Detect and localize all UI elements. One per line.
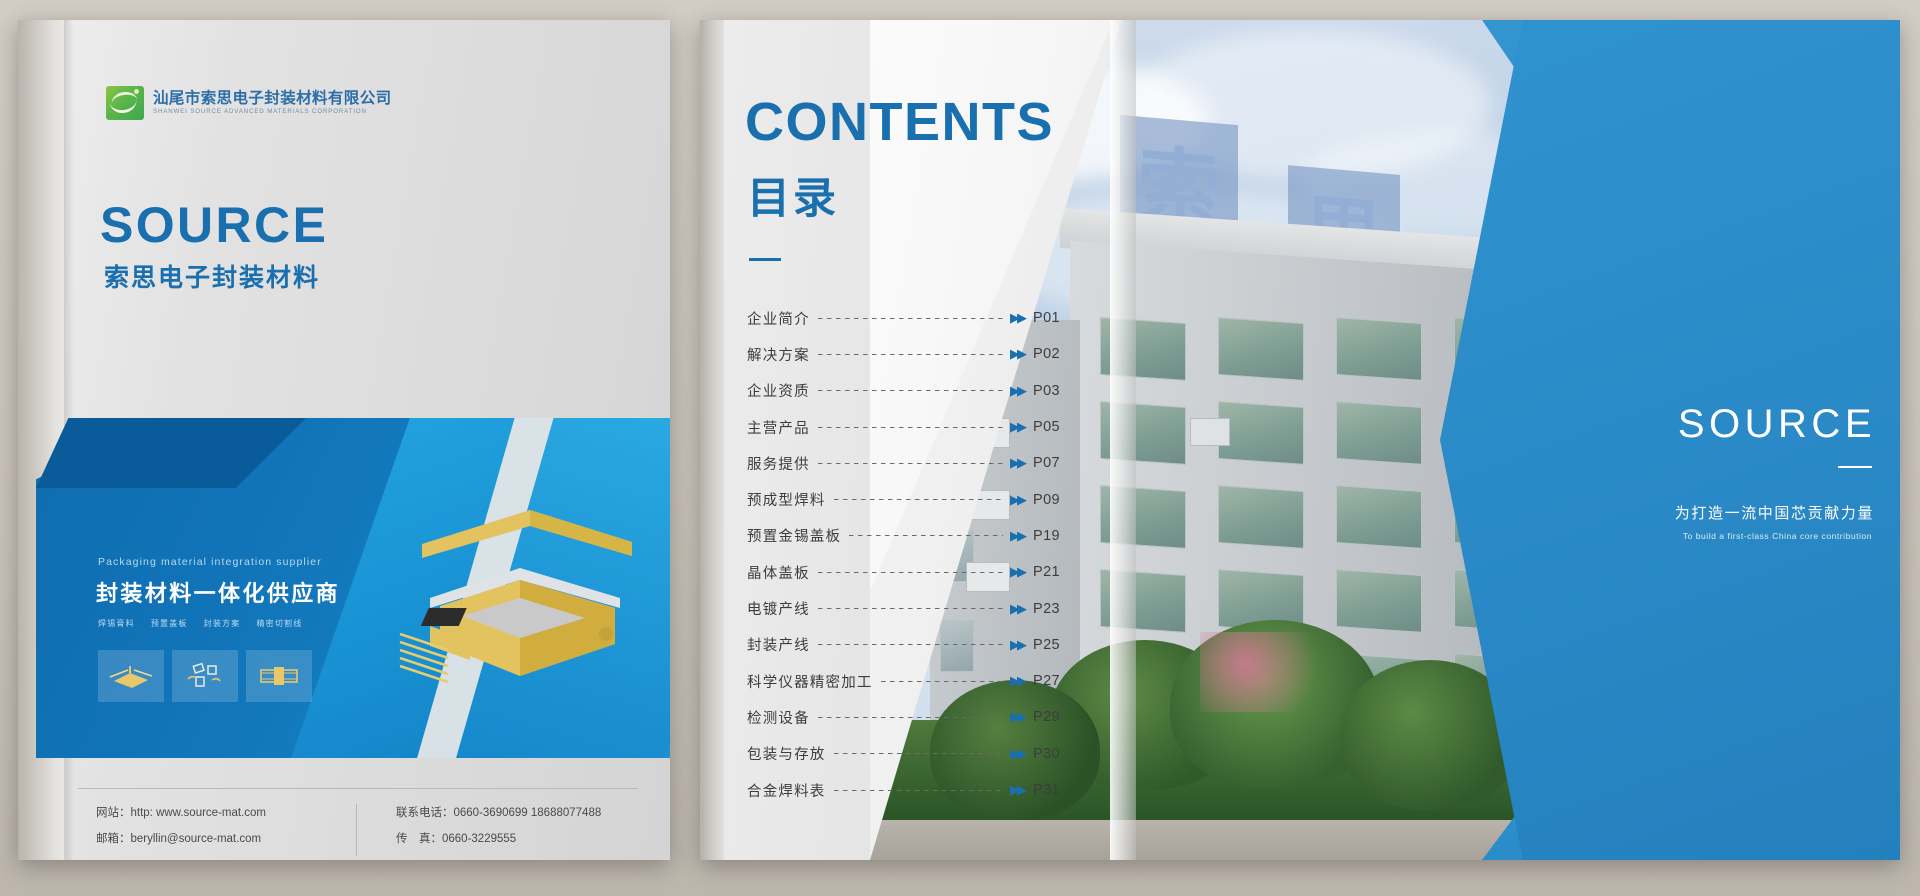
logo-leaf-icon	[106, 86, 144, 120]
panel-tag-list: 焊锡膏料 预置盖板 封装方案 精密切割线	[98, 618, 302, 629]
table-of-contents: 企业简介▶▶P01解决方案▶▶P02企业资质▶▶P03主营产品▶▶P05服务提供…	[747, 300, 1067, 808]
toc-row[interactable]: 企业简介▶▶P01	[747, 300, 1067, 336]
toc-label: 企业资质	[747, 380, 810, 401]
back-panel-rule	[1838, 466, 1872, 468]
cover-title: SOURCE	[100, 200, 328, 250]
toc-leader-dots	[818, 354, 1003, 355]
toc-leader-dots	[834, 753, 1004, 754]
toc-leader-dots	[818, 390, 1003, 391]
toc-row[interactable]: 主营产品▶▶P05	[747, 409, 1067, 445]
back-panel-slogan-cn: 为打造一流中国芯贡献力量	[1675, 506, 1874, 521]
contents-heading-en: CONTENTS	[745, 95, 1054, 149]
toc-label: 电镀产线	[747, 598, 810, 619]
pink-flowers	[1200, 632, 1350, 712]
toc-page-number: P03	[1033, 383, 1067, 399]
toc-row[interactable]: 企业资质▶▶P03	[747, 373, 1067, 409]
toc-label: 晶体盖板	[747, 562, 810, 583]
toc-leader-dots	[818, 717, 1003, 718]
toc-label: 包装与存放	[747, 743, 826, 764]
footer-email-row: 邮箱：beryllin@source-mat.com	[96, 826, 266, 852]
toc-leader-dots	[818, 608, 1003, 609]
building-window	[1218, 317, 1304, 381]
toc-label: 解决方案	[747, 344, 810, 365]
toc-leader-dots	[849, 535, 1003, 536]
footer-left-column: 网站：http: www.source-mat.com 邮箱：beryllin@…	[96, 800, 266, 852]
chevron-right-icon: ▶▶	[1010, 383, 1024, 399]
chevron-right-icon: ▶▶	[1010, 709, 1024, 725]
toc-label: 封装产线	[747, 634, 810, 655]
cover-book: 汕尾市索思电子封装材料有限公司 SHANWEI SOURCE ADVANCED …	[18, 20, 670, 860]
logo-name-en: SHANWEI SOURCE ADVANCED MATERIALS CORPOR…	[153, 109, 392, 115]
toc-label: 检测设备	[747, 707, 810, 728]
footer-fax-row: 传 真：0660-3229555	[396, 826, 601, 852]
contents-spine	[700, 20, 726, 860]
chevron-right-icon: ▶▶	[1010, 310, 1024, 326]
chevron-right-icon: ▶▶	[1010, 637, 1024, 653]
panel-tagline-cn: 封装材料一体化供应商	[96, 576, 340, 608]
toc-row[interactable]: 电镀产线▶▶P23	[747, 590, 1067, 626]
building-window	[1336, 317, 1422, 381]
toc-page-number: P21	[1033, 564, 1067, 580]
toc-page-number: P25	[1033, 637, 1067, 653]
back-panel-slogan-en: To build a first-class China core contri…	[1683, 532, 1872, 541]
toc-label: 合金焊料表	[747, 780, 826, 801]
contents-heading-rule	[749, 258, 781, 261]
email-label: 邮箱：	[96, 833, 131, 845]
toc-label: 服务提供	[747, 453, 810, 474]
toc-page-number: P01	[1033, 310, 1067, 326]
cover-subtitle: 索思电子封装材料	[104, 266, 320, 291]
toc-page-number: P05	[1033, 419, 1067, 435]
fax-value: 0660-3229555	[442, 833, 516, 845]
toc-page-number: P30	[1033, 746, 1067, 762]
toc-page-number: P02	[1033, 346, 1067, 362]
toc-page-number: P29	[1033, 709, 1067, 725]
chevron-right-icon: ▶▶	[1010, 528, 1024, 544]
ac-unit	[1190, 418, 1230, 446]
toc-row[interactable]: 包装与存放▶▶P30	[747, 736, 1067, 772]
panel-tag: 精密切割线	[256, 618, 302, 629]
email-value: beryllin@source-mat.com	[131, 833, 262, 845]
phone-value: 0660-3690699 18688077488	[454, 807, 602, 819]
brochure-spread: 汕尾市索思电子封装材料有限公司 SHANWEI SOURCE ADVANCED …	[0, 0, 1920, 896]
toc-page-number: P23	[1033, 601, 1067, 617]
footer-website-row: 网站：http: www.source-mat.com	[96, 800, 266, 826]
chevron-right-icon: ▶▶	[1010, 601, 1024, 617]
toc-leader-dots	[881, 681, 1003, 682]
building-window	[1336, 485, 1422, 549]
toc-label: 主营产品	[747, 417, 810, 438]
toc-page-number: P09	[1033, 492, 1067, 508]
chevron-right-icon: ▶▶	[1010, 492, 1024, 508]
toc-leader-dots	[818, 572, 1003, 573]
company-logo: 汕尾市索思电子封装材料有限公司 SHANWEI SOURCE ADVANCED …	[106, 86, 392, 120]
panel-tag: 封装方案	[204, 618, 241, 629]
footer-phone-row: 联系电话：0660-3690699 18688077488	[396, 800, 601, 826]
building-window	[1218, 401, 1304, 465]
phone-label: 联系电话：	[396, 807, 454, 819]
panel-tagline-en: Packaging material integration supplier	[98, 556, 322, 568]
toc-row[interactable]: 预成型焊料▶▶P09	[747, 481, 1067, 517]
spread-fold	[1110, 20, 1136, 860]
back-panel-title: SOURCE	[1678, 404, 1876, 444]
fax-label: 传 真：	[396, 833, 442, 845]
toc-page-number: P31	[1033, 782, 1067, 798]
toc-label: 预成型焊料	[747, 489, 826, 510]
toc-row[interactable]: 封装产线▶▶P25	[747, 627, 1067, 663]
toc-row[interactable]: 预置金锡盖板▶▶P19	[747, 518, 1067, 554]
chevron-right-icon: ▶▶	[1010, 419, 1024, 435]
cover-footer: 网站：http: www.source-mat.com 邮箱：beryllin@…	[78, 798, 638, 860]
building-window	[1218, 485, 1304, 549]
toc-row[interactable]: 服务提供▶▶P07	[747, 445, 1067, 481]
chevron-right-icon: ▶▶	[1010, 673, 1024, 689]
package-illustration	[370, 448, 650, 708]
toc-page-number: P19	[1033, 528, 1067, 544]
logo-name-cn: 汕尾市索思电子封装材料有限公司	[153, 91, 392, 107]
panel-thumbnails	[98, 650, 312, 702]
chevron-right-icon: ▶▶	[1010, 455, 1024, 471]
toc-label: 企业简介	[747, 308, 810, 329]
chevron-right-icon: ▶▶	[1010, 746, 1024, 762]
chevron-right-icon: ▶▶	[1010, 346, 1024, 362]
website-value: http: www.source-mat.com	[131, 807, 266, 819]
toc-row[interactable]: 检测设备▶▶P29	[747, 699, 1067, 735]
toc-page-number: P07	[1033, 455, 1067, 471]
toc-leader-dots	[818, 427, 1003, 428]
toc-row[interactable]: 晶体盖板▶▶P21	[747, 554, 1067, 590]
toc-label: 预置金锡盖板	[747, 525, 841, 546]
package-frame-icon	[246, 650, 312, 702]
toc-row[interactable]: 解决方案▶▶P02	[747, 336, 1067, 372]
footer-divider-mid	[356, 804, 357, 856]
panel-tag: 焊锡膏料	[98, 618, 135, 629]
toc-leader-dots	[818, 463, 1003, 464]
chevron-right-icon: ▶▶	[1010, 782, 1024, 798]
toc-page-number: P27	[1033, 673, 1067, 689]
chevron-right-icon: ▶▶	[1010, 564, 1024, 580]
website-label: 网站：	[96, 807, 131, 819]
footer-divider-top	[78, 788, 638, 789]
solder-preform-icon	[98, 650, 164, 702]
toc-leader-dots	[834, 499, 1004, 500]
toc-row[interactable]: 科学仪器精密加工▶▶P27	[747, 663, 1067, 699]
toc-leader-dots	[834, 790, 1004, 791]
building-window	[1336, 569, 1422, 633]
footer-right-column: 联系电话：0660-3690699 18688077488 传 真：0660-3…	[396, 800, 601, 852]
panel-tag: 预置盖板	[151, 618, 188, 629]
toc-leader-dots	[818, 318, 1003, 319]
toc-row[interactable]: 合金焊料表▶▶P31	[747, 772, 1067, 808]
lid-parts-icon	[172, 650, 238, 702]
toc-label: 科学仪器精密加工	[747, 671, 873, 692]
toc-leader-dots	[818, 644, 1003, 645]
contents-heading-cn: 目录	[747, 178, 839, 221]
building-window	[1336, 401, 1422, 465]
